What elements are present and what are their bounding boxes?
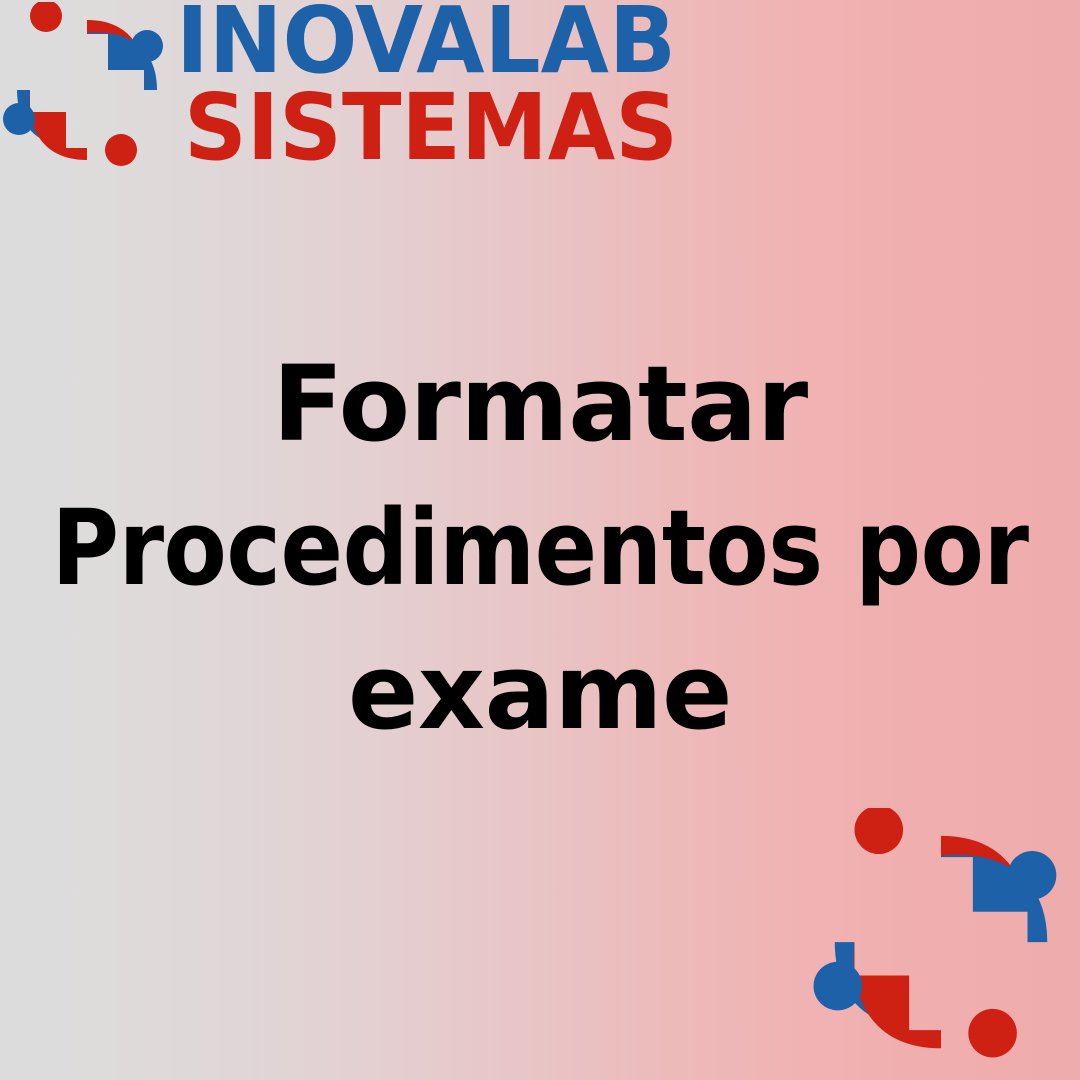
- logo-dot-bottom-right: [105, 134, 137, 166]
- brand-wordmark: INOVALAB SISTEMAS: [176, 0, 686, 171]
- logo-dot-top-right: [131, 30, 163, 62]
- promo-slide: INOVALAB SISTEMAS Formatar Procedimentos…: [0, 0, 1080, 1080]
- logo-dot-bottom-left: [3, 103, 35, 135]
- watermark-dot-top-right: [1008, 851, 1057, 900]
- watermark-dot-bottom-right: [968, 1009, 1017, 1058]
- logo-dot-top-left: [30, 2, 62, 32]
- inovalab-pinwheel-cross-logo-icon: [2, 2, 172, 170]
- headline-line-1: Formatar: [22, 332, 1058, 476]
- headline: Formatar Procedimentos por exame: [22, 332, 1058, 764]
- watermark-dot-top-left: [854, 808, 903, 854]
- watermark-dot-bottom-left: [814, 962, 863, 1011]
- inovalab-pinwheel-cross-logo-watermark-icon: [812, 808, 1070, 1064]
- brand-lockup: INOVALAB SISTEMAS: [0, 0, 690, 180]
- brand-name-line-2: SISTEMAS: [184, 74, 678, 171]
- headline-line-2: Procedimentos por: [30, 476, 1050, 620]
- headline-line-3: exame: [22, 620, 1058, 764]
